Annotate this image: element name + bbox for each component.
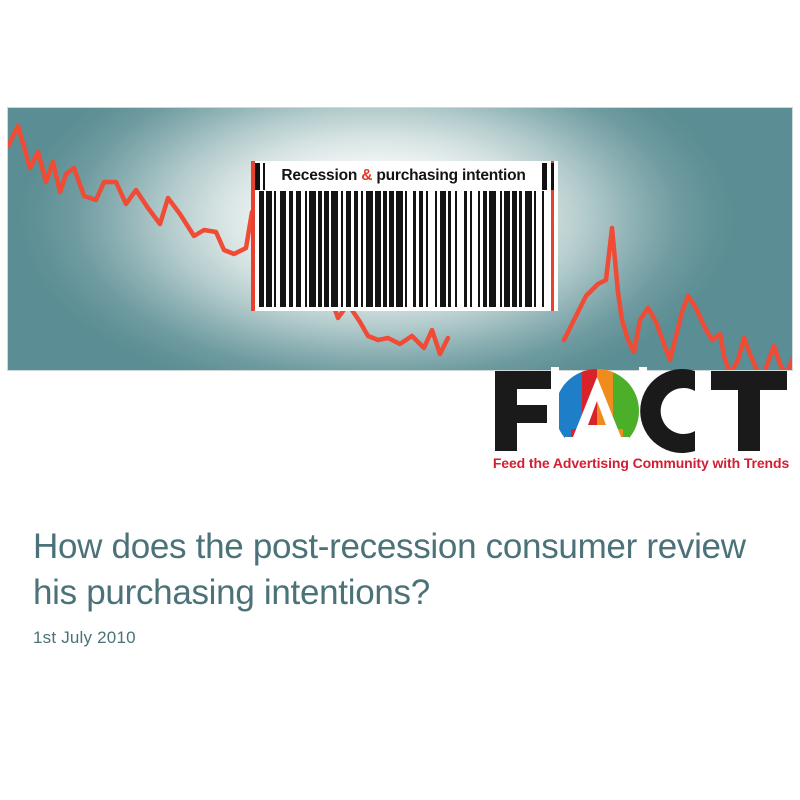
barcode-caption-text: Recession & purchasing intention <box>265 168 542 184</box>
barcode-graphic: Recession & purchasing intention <box>251 161 558 311</box>
barcode-bar <box>280 191 287 307</box>
logo-letter-t <box>711 371 787 451</box>
logo-letter-c <box>640 369 695 453</box>
hero-banner-image: Recession & purchasing intention <box>7 107 793 371</box>
page-title: How does the post-recession consumer rev… <box>33 524 763 616</box>
barcode-guard-bar-left <box>255 163 260 190</box>
barcode-bar <box>396 191 403 307</box>
barcode-caption-before: Recession <box>281 167 361 184</box>
right-trend-polyline <box>564 228 792 371</box>
barcode-bar <box>366 191 373 307</box>
barcode-caption-after: purchasing intention <box>372 167 525 184</box>
fact-wordmark <box>489 367 793 455</box>
logo-a-right-gap <box>639 367 647 455</box>
fact-logo: Feed the Advertising Community with Tren… <box>489 367 793 479</box>
logo-letter-f <box>495 371 551 451</box>
barcode-bar <box>428 191 435 307</box>
barcode-bars <box>259 191 549 307</box>
barcode-bar <box>489 191 496 307</box>
logo-a-left-gap <box>551 367 559 455</box>
barcode-caption-ampersand: & <box>361 167 372 184</box>
title-block: How does the post-recession consumer rev… <box>33 524 763 616</box>
barcode-bar <box>544 191 549 307</box>
barcode-bar <box>309 191 316 307</box>
page-date: 1st July 2010 <box>33 628 136 648</box>
fact-tagline: Feed the Advertising Community with Tren… <box>489 455 793 471</box>
barcode-caption-row: Recession & purchasing intention <box>255 161 554 191</box>
barcode-bar <box>525 191 532 307</box>
logo-letter-a-mark <box>555 369 641 455</box>
barcode-guard-bar-right <box>542 163 547 190</box>
barcode-bar <box>331 191 338 307</box>
barcode-bar <box>457 191 464 307</box>
barcode-guard-bar-right-2 <box>551 163 554 190</box>
